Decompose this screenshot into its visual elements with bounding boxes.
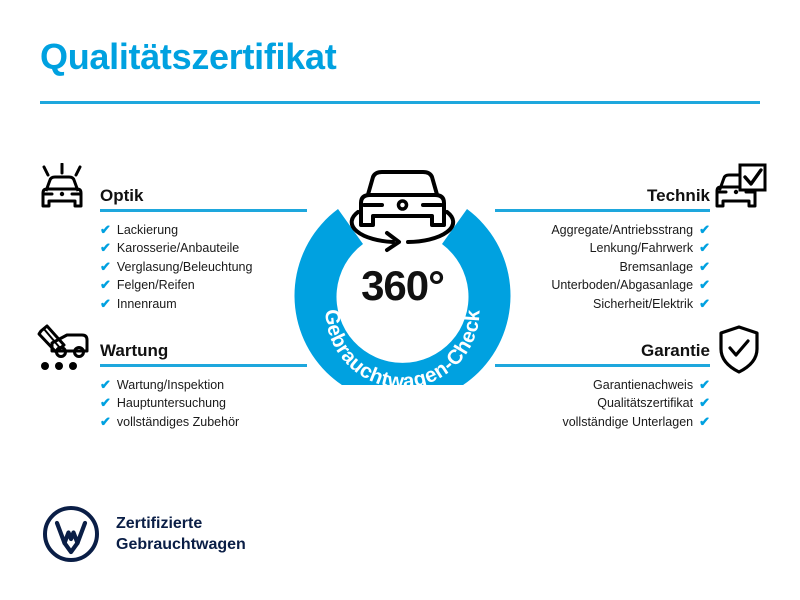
car-checkbox-icon [712,163,768,220]
list-item: Unterboden/Abgasanlage✔ [495,276,710,294]
car-service-pen-icon [34,321,92,380]
title-divider [40,101,760,104]
list-item-label: Lackierung [117,221,178,239]
check-icon: ✔ [100,258,111,276]
list-item: ✔Innenraum [100,295,307,313]
section-wartung: Wartung ✔Wartung/Inspektion ✔Hauptunters… [100,337,307,431]
list-item: ✔Lackierung [100,221,307,239]
list-item-label: Aggregate/Antriebsstrang [551,221,693,239]
badge-360-check: Gebrauchtwagen-Check 360° [290,150,515,385]
section-optik: Optik ✔Lackierung ✔Karosserie/Anbauteile… [100,182,307,313]
list-item-label: Verglasung/Beleuchtung [117,258,253,276]
quality-certificate-page: Qualitätszertifikat [0,0,800,600]
checklist-optik: ✔Lackierung ✔Karosserie/Anbauteile ✔Verg… [100,221,307,313]
list-item-label: Wartung/Inspektion [117,376,224,394]
list-item: ✔vollständiges Zubehör [100,413,307,431]
check-icon: ✔ [699,221,710,239]
check-icon: ✔ [699,413,710,431]
section-technik: Technik Aggregate/Antriebsstrang✔ Lenkun… [495,182,710,313]
shield-check-icon [716,324,762,381]
check-icon: ✔ [100,221,111,239]
check-icon: ✔ [100,276,111,294]
list-item: Qualitätszertifikat✔ [495,394,710,412]
list-item-label: Garantienachweis [593,376,693,394]
section-title: Optik [100,186,143,206]
section-header-optik: Optik [100,182,307,212]
car-rotate-icon [352,172,453,250]
list-item: ✔Karosserie/Anbauteile [100,239,307,257]
section-title: Wartung [100,341,168,361]
section-garantie: Garantie Garantienachweis✔ Qualitätszert… [495,337,710,431]
list-item-label: Innenraum [117,295,177,313]
list-item: ✔Hauptuntersuchung [100,394,307,412]
check-icon: ✔ [699,376,710,394]
check-icon: ✔ [100,394,111,412]
list-item: ✔Wartung/Inspektion [100,376,307,394]
list-item-label: Qualitätszertifikat [597,394,693,412]
vw-logo [42,505,100,563]
check-icon: ✔ [699,394,710,412]
footer-brand: Zertifizierte Gebrauchtwagen [42,505,246,563]
check-icon: ✔ [100,413,111,431]
check-icon: ✔ [699,276,710,294]
list-item-label: Sicherheit/Elektrik [593,295,693,313]
check-icon: ✔ [699,258,710,276]
list-item-label: Unterboden/Abgasanlage [551,276,693,294]
check-icon: ✔ [100,376,111,394]
section-header-garantie: Garantie [495,337,710,367]
section-header-technik: Technik [495,182,710,212]
list-item: ✔Felgen/Reifen [100,276,307,294]
checklist-technik: Aggregate/Antriebsstrang✔ Lenkung/Fahrwe… [495,221,710,313]
section-divider [100,364,307,367]
check-icon: ✔ [100,295,111,313]
section-title: Garantie [641,341,710,361]
check-icon: ✔ [699,239,710,257]
section-header-wartung: Wartung [100,337,307,367]
list-item-label: Hauptuntersuchung [117,394,226,412]
list-item: ✔Verglasung/Beleuchtung [100,258,307,276]
list-item: Aggregate/Antriebsstrang✔ [495,221,710,239]
footer-line-1: Zertifizierte [116,513,246,534]
footer-line-2: Gebrauchtwagen [116,534,246,555]
list-item: Lenkung/Fahrwerk✔ [495,239,710,257]
page-title: Qualitätszertifikat [40,36,336,78]
list-item-label: vollständige Unterlagen [562,413,693,431]
list-item: Bremsanlage✔ [495,258,710,276]
section-divider [495,364,710,367]
checklist-wartung: ✔Wartung/Inspektion ✔Hauptuntersuchung ✔… [100,376,307,431]
car-shine-icon [34,163,90,220]
section-divider [495,209,710,212]
list-item-label: Lenkung/Fahrwerk [590,239,694,257]
section-divider [100,209,307,212]
badge-value: 360° [290,262,515,310]
list-item: vollständige Unterlagen✔ [495,413,710,431]
checklist-garantie: Garantienachweis✔ Qualitätszertifikat✔ v… [495,376,710,431]
list-item-label: vollständiges Zubehör [117,413,239,431]
check-icon: ✔ [100,239,111,257]
list-item: Garantienachweis✔ [495,376,710,394]
footer-text: Zertifizierte Gebrauchtwagen [116,513,246,555]
list-item: Sicherheit/Elektrik✔ [495,295,710,313]
list-item-label: Karosserie/Anbauteile [117,239,239,257]
check-icon: ✔ [699,295,710,313]
list-item-label: Bremsanlage [619,258,693,276]
list-item-label: Felgen/Reifen [117,276,195,294]
section-title: Technik [647,186,710,206]
